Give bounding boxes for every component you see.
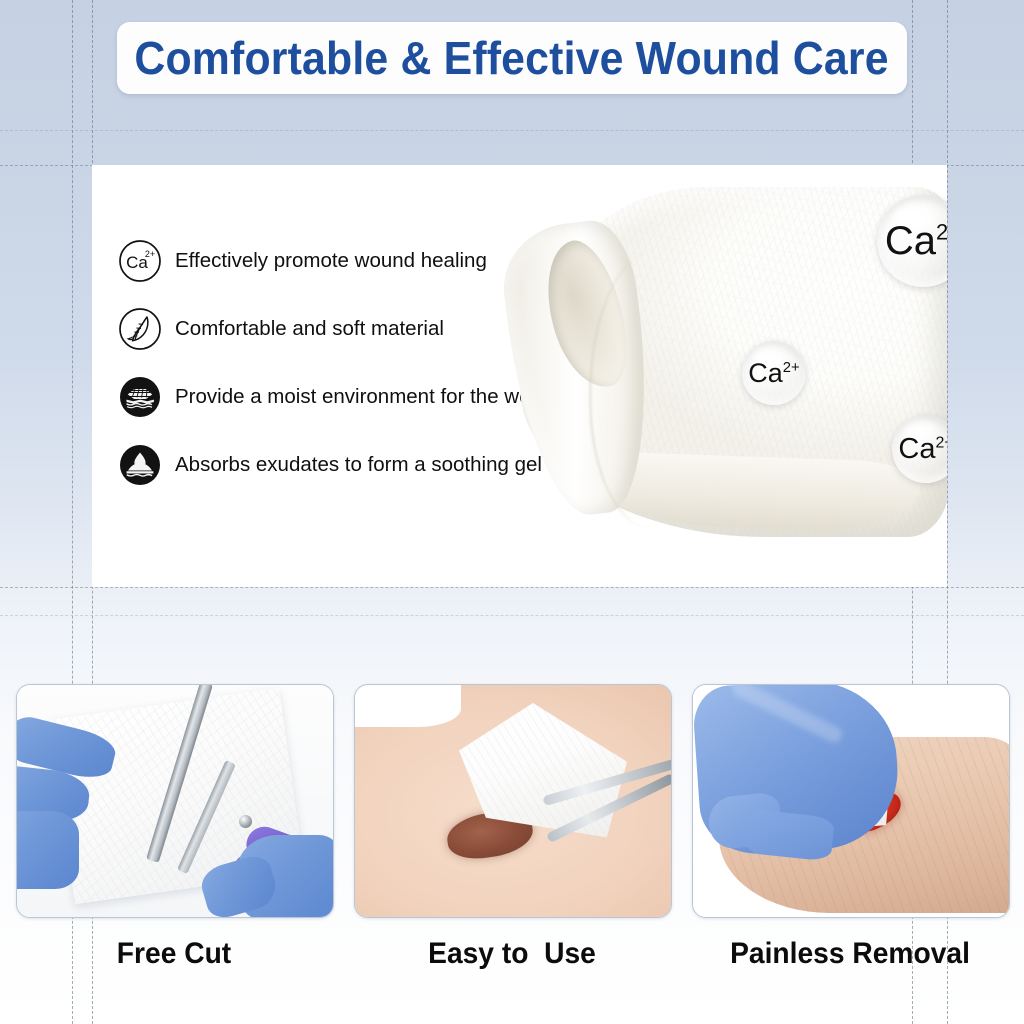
- moist-pad-icon: [118, 375, 162, 419]
- card-caption: Painless Removal: [701, 937, 998, 971]
- product-image: Ca2+ Ca2+ Ca2+: [492, 165, 947, 587]
- gloved-hand-left: [16, 811, 79, 889]
- thumbnail-painless-removal: [692, 684, 1010, 918]
- glove-highlight: [730, 684, 845, 745]
- content-panel: Ca 2+ Effectively promote wound healing: [92, 165, 947, 587]
- bubble-label: Ca2+: [885, 221, 947, 261]
- scissor-pivot: [239, 815, 252, 828]
- feature-label: Comfortable and soft material: [175, 317, 444, 342]
- svg-text:2+: 2+: [145, 249, 155, 259]
- guide-line-horizontal: [0, 615, 1024, 616]
- usage-card-easy-to-use: Easy to Use: [354, 684, 670, 934]
- usage-card-free-cut: Free Cut: [16, 684, 332, 934]
- bubble-label: Ca2+: [898, 435, 947, 464]
- page-title: Comfortable & Effective Wound Care: [135, 31, 889, 85]
- feather-icon: [118, 307, 162, 351]
- feature-label: Effectively promote wound healing: [175, 249, 487, 274]
- title-banner: Comfortable & Effective Wound Care: [117, 22, 907, 94]
- guide-line-horizontal: [0, 130, 1024, 131]
- bubble-label: Ca2+: [748, 360, 799, 387]
- usage-card-row: Free Cut Easy to Use: [0, 684, 1024, 934]
- card-caption: Free Cut: [25, 937, 322, 971]
- background-highlight: [354, 684, 461, 727]
- thumbnail-easy-to-use: [354, 684, 672, 918]
- calcium-ion-icon: Ca 2+: [118, 239, 162, 283]
- usage-card-painless-removal: Painless Removal: [692, 684, 1008, 934]
- card-caption: Easy to Use: [363, 937, 660, 971]
- water-droplet-gel-icon: [118, 443, 162, 487]
- calcium-ion-bubble: Ca2+: [742, 341, 806, 405]
- guide-line-horizontal: [0, 587, 1024, 588]
- thumbnail-free-cut: [16, 684, 334, 918]
- poster-canvas: Comfortable & Effective Wound Care Ca 2+…: [0, 0, 1024, 1024]
